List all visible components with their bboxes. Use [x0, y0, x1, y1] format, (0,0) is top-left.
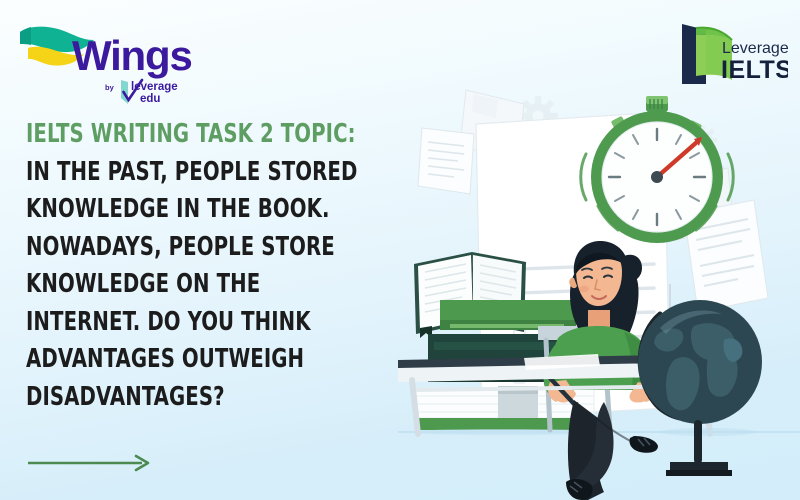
wings-wordmark: Wings	[72, 32, 192, 79]
wings-logo[interactable]: Wings by leverage edu	[18, 18, 218, 108]
student-writing-exam-illustration	[398, 88, 800, 500]
headline-line-1: IN THE PAST, PEOPLE STORED	[26, 154, 336, 192]
headline-line-5: INTERNET. DO YOU THINK	[26, 304, 336, 342]
ielts-logo-line1: Leverage	[722, 40, 788, 57]
leverage-edu-line1: leverage	[131, 81, 178, 93]
leverage-ielts-logo[interactable]: Leverage IELTS	[676, 18, 788, 92]
leverage-edu-line2: edu	[140, 93, 160, 105]
headline-line-3: NOWADAYS, PEOPLE STORE	[26, 229, 336, 267]
headline-line-4: KNOWLEDGE ON THE	[26, 266, 336, 304]
headline-line-2: KNOWLEDGE IN THE BOOK.	[26, 191, 336, 229]
ielts-logo-line2: IELTS	[721, 56, 788, 84]
page-title: IELTS WRITING TASK 2 TOPIC: IN THE PAST,…	[26, 116, 386, 416]
headline-topic-label: IELTS WRITING TASK 2 TOPIC:	[26, 116, 336, 154]
headline-line-6: ADVANTAGES OUTWEIGH	[26, 341, 336, 379]
wings-byline: by	[105, 83, 115, 92]
green-arrow-icon	[26, 452, 156, 474]
headline-line-7: DISADVANTAGES?	[26, 379, 336, 417]
